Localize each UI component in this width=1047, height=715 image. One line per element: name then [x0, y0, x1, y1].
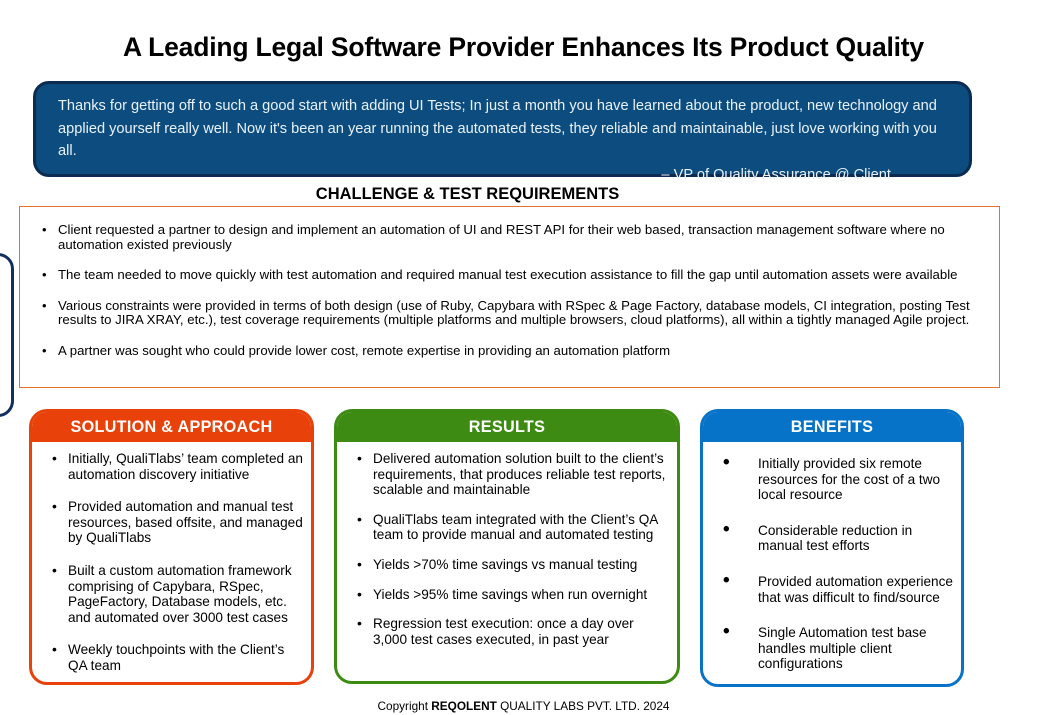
list-item: • The team needed to move quickly with t… — [34, 268, 985, 283]
list-item: • Considerable reduction in manual test … — [711, 523, 953, 554]
bullet-icon: • — [357, 557, 362, 573]
list-item-text: Single Automation test base handles mult… — [758, 625, 927, 671]
challenge-requirements-box: • Client requested a partner to design a… — [19, 206, 1000, 388]
list-item-text: Regression test execution: once a day ov… — [373, 616, 634, 647]
list-item: • Weekly touchpoints with the Client’s Q… — [40, 642, 303, 673]
results-bullet-list: • Delivered automation solution built to… — [345, 451, 669, 647]
bullet-icon: • — [357, 616, 362, 632]
list-item-text: QualiTlabs team integrated with the Clie… — [373, 512, 658, 543]
list-item: • Provided automation and manual test re… — [40, 499, 303, 546]
panel-results: RESULTS • Delivered automation solution … — [334, 409, 680, 684]
benefits-bullet-list: • Initially provided six remote resource… — [711, 456, 953, 672]
client-quote-banner: Thanks for getting off to such a good st… — [33, 81, 972, 177]
list-item-text: Weekly touchpoints with the Client’s QA … — [68, 642, 284, 673]
bullet-icon: • — [52, 563, 57, 579]
bullet-icon: • — [357, 512, 362, 528]
solution-bullet-list: • Initially, QualiTlabs’ team completed … — [40, 451, 303, 674]
bullet-icon: • — [52, 642, 57, 658]
bullet-icon: • — [357, 587, 362, 603]
list-item-text: Provided automation and manual test reso… — [68, 499, 303, 545]
list-item: • QualiTlabs team integrated with the Cl… — [345, 512, 669, 543]
challenge-bullet-list: • Client requested a partner to design a… — [34, 223, 985, 359]
panel-header-solution: SOLUTION & APPROACH — [32, 412, 311, 442]
bullet-icon: • — [723, 574, 730, 587]
list-item: • Client requested a partner to design a… — [34, 223, 985, 252]
bullet-icon: • — [723, 456, 730, 469]
list-item: • Initially, QualiTlabs’ team completed … — [40, 451, 303, 482]
list-item: • Yields >95% time savings when run over… — [345, 587, 669, 603]
bullet-icon: • — [723, 625, 730, 638]
bullet-icon: • — [52, 451, 57, 467]
footer-brand: REQOLENT — [431, 699, 497, 713]
panel-solution-approach: SOLUTION & APPROACH • Initially, QualiTl… — [29, 409, 314, 685]
bullet-icon: • — [42, 222, 47, 237]
list-item-text: Provided automation experience that was … — [758, 574, 953, 605]
list-item-text: Various constraints were provided in ter… — [58, 298, 970, 328]
list-item: • Yields >70% time savings vs manual tes… — [345, 557, 669, 573]
panel-benefits: BENEFITS • Initially provided six remote… — [700, 409, 964, 687]
list-item: • Built a custom automation framework co… — [40, 563, 303, 625]
panel-body-results: • Delivered automation solution built to… — [337, 442, 677, 667]
list-item: • A partner was sought who could provide… — [34, 344, 985, 359]
list-item-text: Yields >70% time savings vs manual testi… — [373, 557, 637, 572]
footer-suffix: QUALITY LABS PVT. LTD. 2024 — [497, 699, 670, 713]
panel-body-solution: • Initially, QualiTlabs’ team completed … — [32, 442, 311, 685]
list-item: • Various constraints were provided in t… — [34, 299, 985, 328]
list-item-text: The team needed to move quickly with tes… — [58, 267, 957, 282]
list-item: • Single Automation test base handles mu… — [711, 625, 953, 672]
challenge-section-heading: CHALLENGE & TEST REQUIREMENTS — [0, 185, 935, 204]
list-item-text: A partner was sought who could provide l… — [58, 343, 670, 358]
list-item-text: Built a custom automation framework comp… — [68, 563, 292, 625]
panel-header-results: RESULTS — [337, 412, 677, 442]
footer-prefix: Copyright — [378, 699, 432, 713]
copyright-footer: Copyright REQOLENT QUALITY LABS PVT. LTD… — [0, 699, 1047, 713]
list-item: • Delivered automation solution built to… — [345, 451, 669, 498]
bullet-icon: • — [42, 267, 47, 282]
list-item-text: Client requested a partner to design and… — [58, 222, 945, 252]
list-item-text: Yields >95% time savings when run overni… — [373, 587, 647, 602]
bullet-icon: • — [52, 499, 57, 515]
bullet-icon: • — [42, 343, 47, 358]
client-quote-attribution: – VP of Quality Assurance @ Client. — [58, 167, 947, 183]
decorative-edge-shape — [0, 253, 14, 417]
bullet-icon: • — [357, 451, 362, 467]
client-quote-text: Thanks for getting off to such a good st… — [58, 95, 947, 163]
list-item: • Provided automation experience that wa… — [711, 574, 953, 605]
panel-body-benefits: • Initially provided six remote resource… — [703, 442, 961, 687]
page-title: A Leading Legal Software Provider Enhanc… — [0, 32, 1047, 63]
list-item-text: Initially provided six remote resources … — [758, 456, 940, 502]
bullet-icon: • — [723, 523, 730, 536]
list-item-text: Delivered automation solution built to t… — [373, 451, 665, 497]
list-item-text: Initially, QualiTlabs’ team completed an… — [68, 451, 303, 482]
list-item: • Initially provided six remote resource… — [711, 456, 953, 503]
slide-canvas: A Leading Legal Software Provider Enhanc… — [0, 0, 1047, 715]
bullet-icon: • — [42, 298, 47, 313]
panel-header-benefits: BENEFITS — [703, 412, 961, 442]
list-item-text: Considerable reduction in manual test ef… — [758, 523, 912, 554]
list-item: • Regression test execution: once a day … — [345, 616, 669, 647]
